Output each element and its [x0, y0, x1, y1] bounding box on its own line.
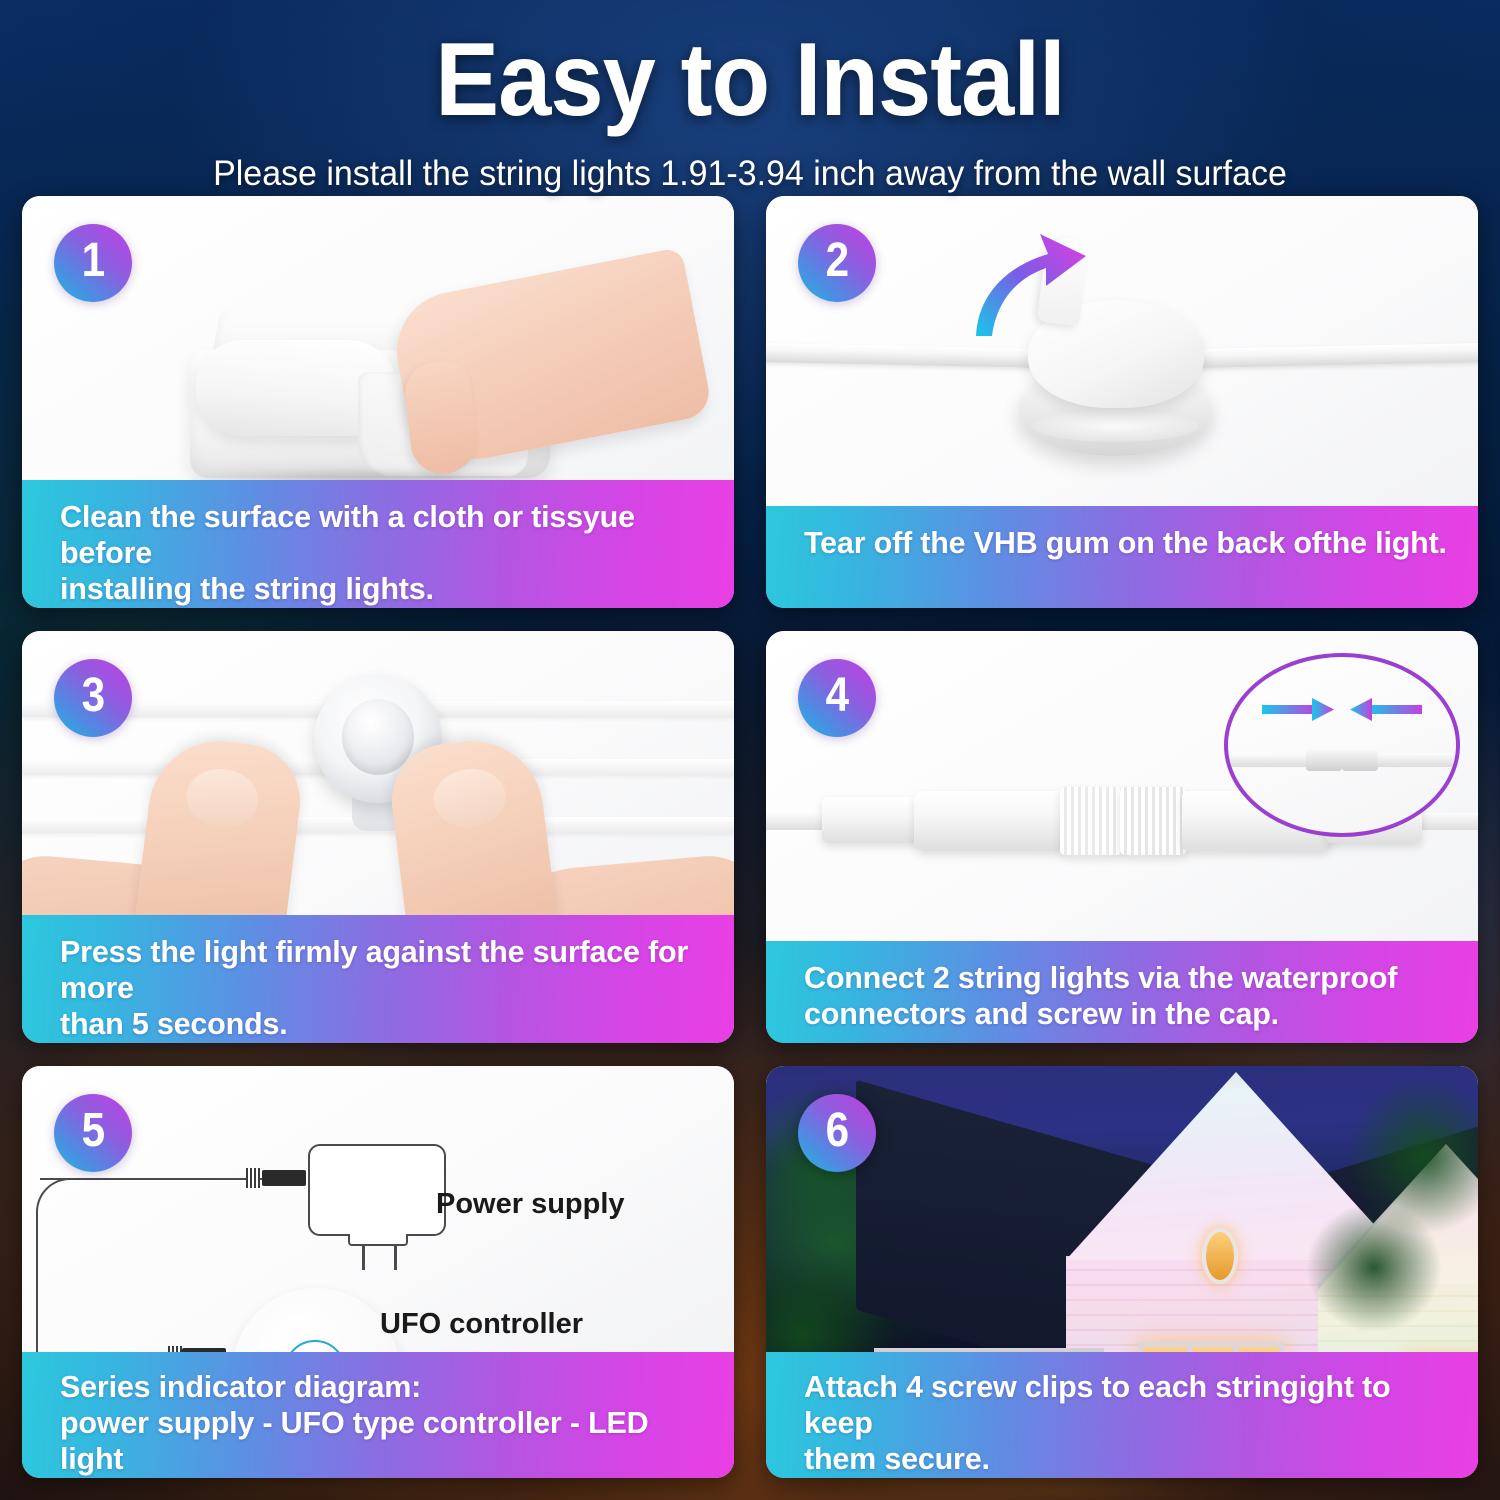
step-card-2: 2 Tear off the VHB gum on the back ofthe	[766, 196, 1478, 608]
page-subtitle: Please install the string lights 1.91-3.…	[23, 154, 1478, 194]
step-card-4: 4	[766, 631, 1478, 1043]
connector-cap-right	[1120, 787, 1186, 855]
step-badge-4-number: 4	[825, 672, 848, 720]
thumbnail-graphic	[183, 765, 262, 831]
step-6-caption: Attach 4 screw clips to each stringight …	[766, 1352, 1478, 1478]
caption-line: power supply - UFO type controller - LED…	[60, 1406, 708, 1478]
step-badge-2-number: 2	[825, 237, 848, 285]
caption-line: Series indicator diagram:	[60, 1370, 708, 1406]
diagram-cable-bend	[36, 1178, 106, 1352]
step-badge-6: 6	[798, 1094, 876, 1172]
power-prong-left	[362, 1246, 365, 1270]
step-1-caption: Clean the surface with a cloth or tissyu…	[22, 480, 734, 608]
header: Easy to Install Please install the strin…	[0, 0, 1500, 194]
window-mullion	[1187, 1347, 1192, 1352]
house-night-photo	[766, 1066, 1478, 1352]
step-3-illustration: 3	[22, 631, 734, 915]
power-supply-brick	[308, 1144, 446, 1236]
page-title: Easy to Install	[60, 0, 1440, 132]
step-badge-1-number: 1	[81, 237, 104, 285]
label-ufo-controller: UFO controller	[380, 1308, 583, 1341]
power-prong-right	[394, 1246, 397, 1270]
caption-line: them secure.	[804, 1442, 1452, 1478]
caption-line: connectors and screw in the cap.	[804, 997, 1452, 1033]
caption-line: Connect 2 string lights via the waterpro…	[804, 961, 1452, 997]
eave-trim	[874, 1348, 1104, 1352]
caption-line: Press the light firmly against the surfa…	[60, 935, 708, 1007]
diagram-plug-rib-bottom	[168, 1346, 182, 1352]
caption-line: Attach 4 screw clips to each stringight …	[804, 1370, 1452, 1442]
step-2-illustration: 2	[766, 196, 1478, 506]
step-3-caption: Press the light firmly against the surfa…	[22, 915, 734, 1043]
step-badge-3-number: 3	[81, 672, 104, 720]
inset-plug-male	[1306, 749, 1342, 771]
step-4-caption: Connect 2 string lights via the waterpro…	[766, 941, 1478, 1043]
step-4-illustration: 4	[766, 631, 1478, 941]
window-left	[1138, 1342, 1284, 1352]
step-card-5: 5	[22, 1066, 734, 1478]
arrow-left-icon	[1348, 695, 1422, 725]
towel-illustration	[172, 288, 612, 480]
connector-barrel-left	[914, 791, 1064, 851]
step-card-6: 6 Attach 4 screw clips to each stringigh…	[766, 1066, 1478, 1478]
steps-grid: 1 Clean the surface with a cloth or tiss…	[22, 196, 1478, 1478]
curved-up-arrow-icon	[962, 224, 1092, 344]
caption-line: than 5 seconds.	[60, 1007, 708, 1043]
step-5-illustration: 5	[22, 1066, 734, 1352]
step-6-illustration: 6	[766, 1066, 1478, 1352]
connector-detail-inset	[1224, 653, 1460, 837]
step-badge-1: 1	[54, 224, 132, 302]
step-1-illustration: 1	[22, 196, 734, 480]
step-2-caption: Tear off the VHB gum on the back ofthe l…	[766, 506, 1478, 608]
step-5-caption: Series indicator diagram: power supply -…	[22, 1352, 734, 1478]
step-badge-5-number: 5	[81, 1107, 104, 1155]
step-badge-2: 2	[798, 224, 876, 302]
light-cable-left	[766, 343, 1046, 368]
step-badge-6-number: 6	[825, 1107, 848, 1155]
diagram-plug-rib-top	[246, 1168, 260, 1188]
tree-right	[1282, 1076, 1478, 1352]
step-badge-4: 4	[798, 659, 876, 737]
connector-sleeve-left	[822, 797, 918, 843]
connector-cap-left	[1060, 787, 1122, 855]
step-card-1: 1 Clean the surface with a cloth or tiss…	[22, 196, 734, 608]
window-mullion	[1233, 1347, 1238, 1352]
inset-plug-female	[1342, 749, 1378, 771]
diagram-plug-top	[262, 1170, 306, 1186]
caption-line: installing the string lights.	[60, 572, 708, 608]
series-wiring-diagram: Power supply UFO controller Led string	[22, 1066, 734, 1352]
caption-line: Tear off the VHB gum on the back ofthe l…	[804, 526, 1452, 562]
thumbnail-graphic	[430, 765, 509, 831]
step-badge-5: 5	[54, 1094, 132, 1172]
label-power-supply: Power supply	[436, 1188, 625, 1221]
diagram-plug-bottom	[182, 1348, 226, 1352]
oval-attic-window	[1202, 1228, 1238, 1284]
towel-shadow	[194, 468, 546, 480]
step-card-3: 3 Press the light firmly against the sur…	[22, 631, 734, 1043]
light-cable-right	[1188, 343, 1478, 368]
power-supply-foot	[348, 1234, 408, 1246]
step-badge-3: 3	[54, 659, 132, 737]
arrow-right-icon	[1262, 695, 1336, 725]
caption-line: Clean the surface with a cloth or tissyu…	[60, 500, 708, 572]
